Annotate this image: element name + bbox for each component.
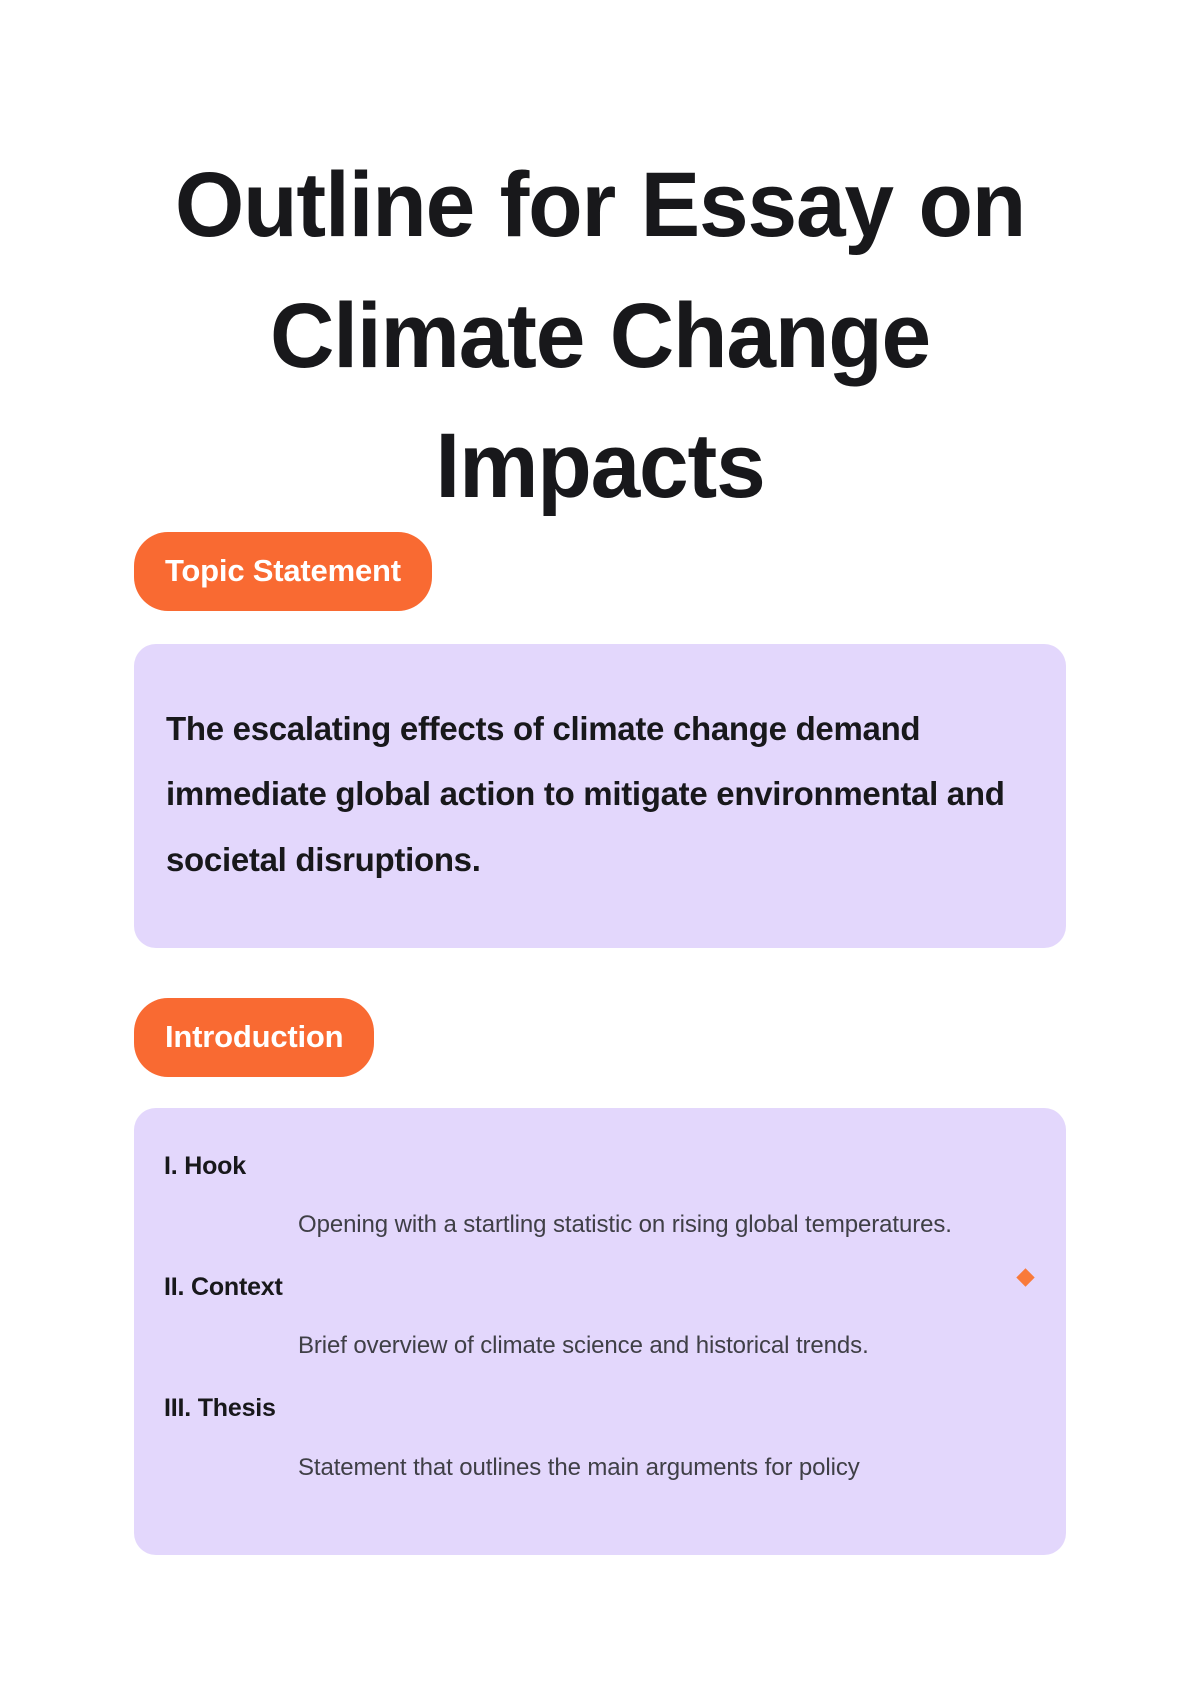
topic-statement-card: The escalating effects of climate change… bbox=[134, 644, 1066, 948]
list-item: III. Thesis Statement that outlines the … bbox=[164, 1390, 1032, 1493]
topic-statement-text: The escalating effects of climate change… bbox=[166, 696, 1030, 892]
page-title: Outline for Essay on Climate Change Impa… bbox=[148, 0, 1052, 532]
outline-body: Brief overview of climate science and hi… bbox=[164, 1320, 1032, 1372]
list-item: I. Hook Opening with a startling statist… bbox=[164, 1148, 1032, 1251]
section-badge-introduction[interactable]: Introduction bbox=[134, 998, 374, 1077]
topic-statement-badge-row: Topic Statement bbox=[134, 532, 1066, 611]
outline-body: Opening with a startling statistic on ri… bbox=[164, 1199, 1032, 1251]
outline-heading: II. Context bbox=[164, 1269, 1032, 1307]
outline-body: Statement that outlines the main argumen… bbox=[164, 1442, 1032, 1494]
section-badge-topic-statement[interactable]: Topic Statement bbox=[134, 532, 432, 611]
outline-heading: I. Hook bbox=[164, 1148, 1032, 1186]
document-page: Outline for Essay on Climate Change Impa… bbox=[0, 0, 1200, 1697]
introduction-outline-card: I. Hook Opening with a startling statist… bbox=[134, 1108, 1066, 1555]
introduction-badge-row: Introduction bbox=[134, 998, 1066, 1077]
list-item: II. Context Brief overview of climate sc… bbox=[164, 1269, 1032, 1372]
outline-heading: III. Thesis bbox=[164, 1390, 1032, 1428]
